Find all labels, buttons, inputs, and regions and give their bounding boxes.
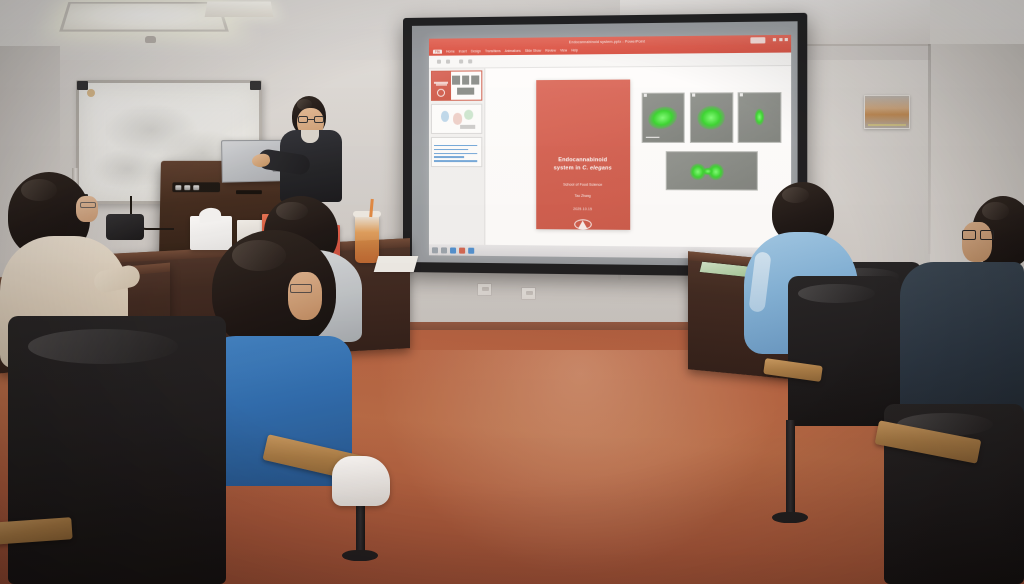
panel-label-a (644, 94, 647, 97)
explorer-icon[interactable] (450, 247, 456, 253)
micro-panel-d (665, 151, 757, 190)
font-icon[interactable] (446, 60, 450, 64)
projection-screen[interactable]: Endocannabinoid system.pptx - PowerPoint… (403, 13, 807, 277)
paper-sheet (374, 256, 419, 272)
whiteboard-corner-bracket (250, 81, 261, 90)
tab-review[interactable]: Review (545, 49, 556, 53)
thumbnail-slide-1[interactable] (431, 70, 482, 100)
tab-help[interactable]: Help (571, 48, 578, 52)
lectern-control-panel[interactable] (172, 182, 220, 192)
ceiling-light-panel (59, 2, 229, 32)
seat-foot-right-a (772, 512, 808, 523)
document-title: Endocannabinoid system.pptx - PowerPoint (429, 37, 791, 45)
wall-corner-right (928, 44, 931, 254)
wall-notice-frame (864, 95, 910, 129)
presenter-glasses-icon (298, 116, 324, 123)
slide-title-line1: Endocannabinoid (558, 158, 607, 164)
slide-title-species: C. elegans (582, 166, 611, 172)
restore-icon[interactable] (779, 38, 782, 41)
tab-slideshow[interactable]: Slide Show (525, 49, 541, 53)
scale-bar (646, 137, 660, 138)
micro-panel-b (690, 92, 733, 143)
tab-home[interactable]: Home (446, 50, 455, 54)
student-5-face (962, 222, 992, 262)
microscopy-figure-group (642, 92, 782, 219)
panel-label-c (740, 93, 743, 96)
wall-socket-right (521, 287, 536, 300)
floor-light-reflection (370, 350, 790, 584)
seat-leg-right-a (786, 420, 795, 516)
browser-icon[interactable] (468, 247, 474, 253)
search-icon[interactable] (441, 247, 447, 253)
control-button[interactable] (193, 185, 199, 190)
tab-insert[interactable]: Insert (459, 49, 467, 53)
thumbnail-slide-2[interactable] (431, 104, 482, 134)
control-button[interactable] (175, 185, 181, 190)
minimize-icon[interactable] (773, 38, 776, 41)
slide-thumbnail-pane[interactable] (429, 68, 485, 244)
slide-canvas[interactable]: Endocannabinoid system in C. elegans Sch… (485, 66, 791, 248)
wall-socket-left (477, 283, 492, 296)
powerpoint-window[interactable]: Endocannabinoid system.pptx - PowerPoint… (429, 35, 791, 259)
tab-transitions[interactable]: Transitions (485, 49, 501, 53)
student-5-glasses-icon (962, 230, 994, 240)
powerpoint-icon[interactable] (459, 247, 465, 253)
title-slide[interactable]: Endocannabinoid system in C. elegans Sch… (536, 80, 630, 230)
student-1-glasses-icon (80, 202, 96, 208)
slide-title: Endocannabinoid system in C. elegans (540, 158, 626, 174)
tab-view[interactable]: View (560, 48, 567, 52)
panel-label-b (692, 94, 695, 97)
student-1-face (76, 196, 98, 222)
seat-foot-left-b (342, 550, 378, 561)
micro-panel-a (642, 92, 685, 142)
bold-icon[interactable] (459, 59, 463, 63)
slide-date: 2025.10.15 (573, 207, 592, 211)
student-1-phone[interactable] (106, 214, 144, 240)
ceiling-light-panel-secondary (205, 2, 274, 17)
control-button[interactable] (184, 185, 190, 190)
university-seal-icon (574, 219, 592, 229)
tab-animations[interactable]: Animations (505, 49, 521, 53)
thumbnail-slide-3[interactable] (431, 137, 482, 167)
white-sneaker (332, 456, 390, 506)
student-2-glasses-icon (290, 284, 312, 293)
paste-icon[interactable] (437, 60, 441, 64)
slide-author: Tao Zhang (575, 194, 591, 198)
close-icon[interactable] (785, 38, 788, 41)
micro-panel-c (738, 92, 782, 143)
lectern-slot (236, 190, 262, 194)
share-button[interactable] (750, 37, 765, 43)
screen-surface: Endocannabinoid system.pptx - PowerPoint… (412, 21, 798, 266)
tissue-box (190, 216, 232, 250)
cup-lid (353, 211, 381, 217)
bullet-list-icon[interactable] (468, 59, 472, 63)
powerpoint-body: Endocannabinoid system in C. elegans Sch… (429, 66, 791, 248)
drink-cup (355, 215, 379, 263)
tab-design[interactable]: Design (471, 49, 481, 53)
slide-title-line2-prefix: system in (554, 166, 583, 172)
whiteboard-magnet-icon (87, 89, 95, 97)
slide-subtitle: School of Food Science (563, 183, 602, 187)
student-2-face (288, 272, 322, 320)
whiteboard-corner-bracket (77, 81, 88, 90)
smoke-detector-icon (145, 36, 156, 43)
tab-file[interactable]: File (433, 50, 442, 54)
seat-foreground-left[interactable] (8, 316, 226, 584)
lecture-hall-photo: Endocannabinoid system.pptx - PowerPoint… (0, 0, 1024, 584)
start-icon[interactable] (432, 247, 438, 253)
window-controls[interactable] (773, 38, 788, 41)
